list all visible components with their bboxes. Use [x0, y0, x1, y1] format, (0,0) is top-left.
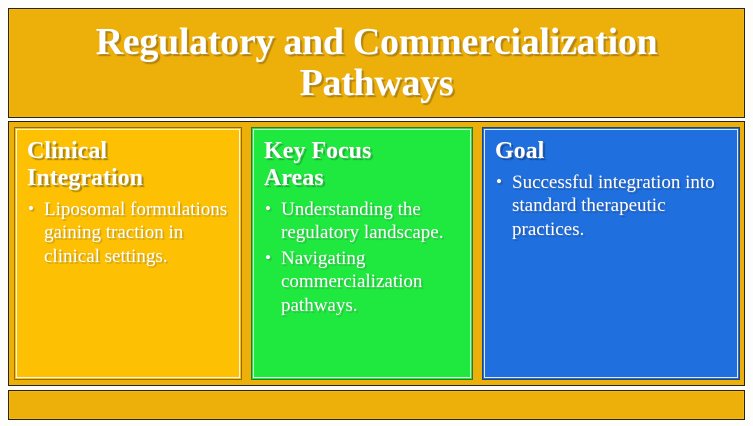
- page-title: Regulatory and Commercialization Pathway…: [82, 22, 672, 104]
- list-item-text: Liposomal formulations gaining traction …: [44, 199, 227, 267]
- column-divider: [473, 127, 482, 380]
- list-item: • Understanding the regulatory landscape…: [264, 198, 462, 245]
- list-item: • Liposomal formulations gaining tractio…: [27, 198, 231, 269]
- column-bullet-list: • Understanding the regulatory landscape…: [264, 198, 462, 318]
- bullet-dot-icon: •: [496, 171, 502, 192]
- column-clinical-integration[interactable]: Clinical Integration • Liposomal formula…: [14, 127, 242, 380]
- column-bullet-list: • Liposomal formulations gaining tractio…: [27, 198, 231, 269]
- columns-container: Clinical Integration • Liposomal formula…: [8, 121, 745, 386]
- column-divider: [242, 127, 251, 380]
- list-item: • Successful integration into standard t…: [495, 171, 729, 242]
- bullet-dot-icon: •: [265, 247, 271, 268]
- bullet-dot-icon: •: [28, 198, 34, 219]
- list-item-text: Understanding the regulatory landscape.: [281, 199, 443, 244]
- list-item: • Navigating commercialization pathways.: [264, 247, 462, 318]
- column-key-focus-areas[interactable]: Key Focus Areas • Understanding the regu…: [251, 127, 473, 380]
- column-heading: Clinical Integration: [27, 138, 231, 192]
- bullet-dot-icon: •: [265, 198, 271, 219]
- title-banner: Regulatory and Commercialization Pathway…: [8, 8, 745, 118]
- column-heading: Key Focus Areas: [264, 138, 462, 192]
- column-goal[interactable]: Goal • Successful integration into stand…: [482, 127, 740, 380]
- column-bullet-list: • Successful integration into standard t…: [495, 171, 729, 242]
- list-item-text: Successful integration into standard the…: [512, 172, 715, 240]
- column-heading: Goal: [495, 138, 729, 165]
- footer-bar: [8, 390, 745, 420]
- slide-canvas: Regulatory and Commercialization Pathway…: [0, 0, 753, 426]
- list-item-text: Navigating commercialization pathways.: [281, 248, 422, 316]
